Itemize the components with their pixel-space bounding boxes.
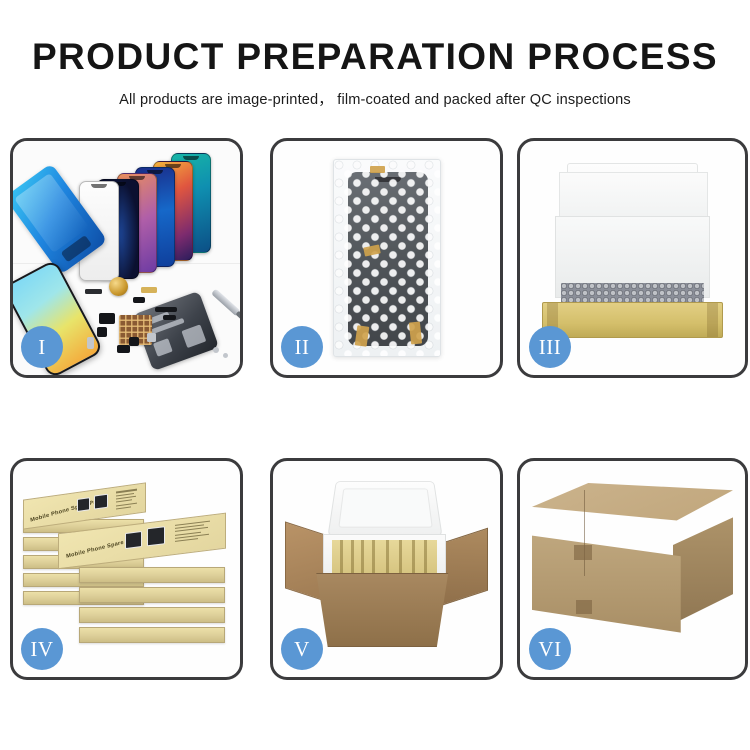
step-badge-5: V [281,628,323,670]
process-step-panel-2: II [270,138,503,378]
kraft-box-base [542,302,722,338]
process-step-panel-5: V [270,458,503,680]
step-badge-6: VI [529,628,571,670]
tape-piece [354,325,369,346]
flex-cable-part [99,313,115,324]
speaker-part [129,337,139,346]
step-badge-4: IV [21,628,63,670]
process-step-panel-3: III [517,138,748,378]
tape-piece [370,166,385,173]
header: PRODUCT PREPARATION PROCESS All products… [0,38,750,109]
carton-body [311,573,454,647]
camera-part [87,337,94,349]
tape-piece [408,321,421,344]
carton-tape-mark [574,545,592,560]
screw-part [223,353,228,358]
process-step-panel-4: Mobile Phone Spare Parts Mobile Phone Sp… [10,458,243,680]
flex-cable-part [163,315,176,320]
phone-fan-group [85,151,235,276]
bubble-wrap-bag [333,159,441,357]
gold-connector-part [141,287,157,293]
screw-part [213,347,219,353]
screw-part [147,333,156,342]
page-title: PRODUCT PREPARATION PROCESS [0,38,750,77]
speaker-part [117,345,130,353]
flex-cable-part [133,297,145,303]
flex-cable-part [155,307,177,312]
gold-coil-part [109,277,128,296]
packed-kraft-boxes [332,540,438,577]
carton-side-face [673,517,733,624]
product-preparation-process-infographic: PRODUCT PREPARATION PROCESS All products… [0,0,750,750]
process-step-panel-6: VI [517,458,748,680]
step-badge-2: II [281,326,323,368]
styrofoam-lid [327,481,442,536]
process-step-grid: I II [10,138,740,680]
process-step-panel-1: I [10,138,243,378]
step-badge-1: I [21,326,63,368]
carton-tape-mark [576,600,592,614]
carton-seam [584,490,676,576]
step-badge-3: III [529,326,571,368]
chip-part [85,289,102,294]
flex-cable-part [97,327,107,337]
page-subtitle: All products are image-printed， film-coa… [0,88,750,109]
